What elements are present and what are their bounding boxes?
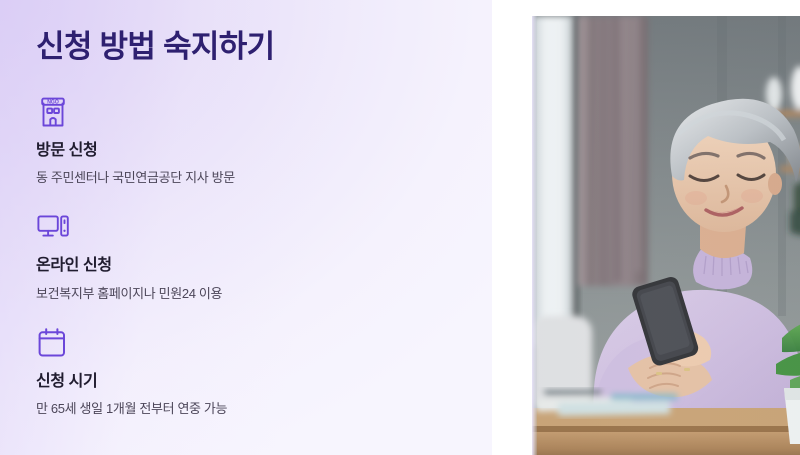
info-item-title: 온라인 신청	[36, 256, 492, 275]
info-item-title: 신청 시기	[36, 372, 492, 391]
calendar-icon	[36, 327, 492, 359]
info-item-visit: NGO 방문 신청 동 주민센터나 국민연금공단 지사 방문	[36, 96, 492, 187]
info-item-desc: 동 주민센터나 국민연금공단 지사 방문	[36, 169, 492, 187]
hero-photo	[532, 16, 800, 455]
info-panel: 신청 방법 숙지하기 NGO 방문 신청	[0, 0, 492, 455]
info-item-desc: 만 65세 생일 1개월 전부터 연중 가능	[36, 400, 492, 418]
info-item-period: 신청 시기 만 65세 생일 1개월 전부터 연중 가능	[36, 327, 492, 418]
info-item-online: 온라인 신청 보건복지부 홈페이지나 민원24 이용	[36, 211, 492, 302]
panel-content: 신청 방법 숙지하기 NGO 방문 신청	[0, 0, 492, 418]
slide-root: 신청 방법 숙지하기 NGO 방문 신청	[0, 0, 800, 455]
info-item-desc: 보건복지부 홈페이지나 민원24 이용	[36, 285, 492, 303]
ngo-building-icon: NGO	[36, 96, 492, 128]
info-item-list: NGO 방문 신청 동 주민센터나 국민연금공단 지사 방문	[36, 96, 492, 418]
info-item-title: 방문 신청	[36, 141, 492, 160]
page-title: 신청 방법 숙지하기	[36, 29, 492, 65]
photo-illustration	[532, 16, 800, 455]
ngo-icon-label: NGO	[47, 99, 59, 105]
desktop-computer-icon	[36, 211, 492, 243]
